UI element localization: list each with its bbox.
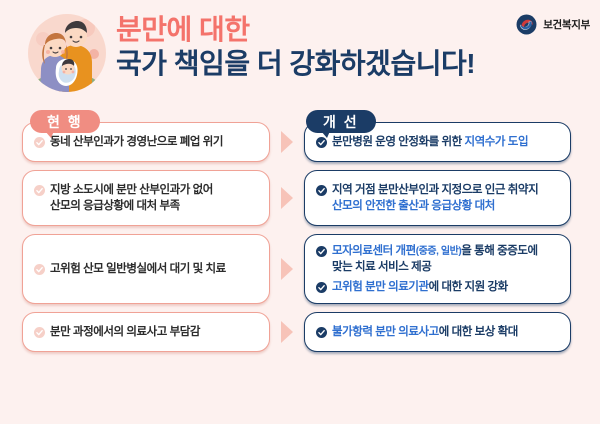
bullet-item: 분만 과정에서의 의료사고 부담감 — [34, 324, 256, 340]
bullet-item: 불가항력 분만 의료사고에 대한 보상 확대 — [316, 324, 557, 340]
text-segment: 에 대한 지원 강화 — [429, 281, 508, 293]
bullet-item: 고위험 산모 일반병실에서 대기 및 치료 — [34, 261, 256, 277]
text-segment: 분만 과정에서의 의료사고 부담감 — [50, 326, 200, 338]
title-line-2: 국가 책임을 더 강화하겠습니다! — [116, 48, 496, 80]
arrow-right-icon — [281, 258, 293, 280]
infographic-poster: 분만에 대한 국가 책임을 더 강화하겠습니다! 보건복지부 현 행 개 선 동… — [0, 0, 600, 424]
check-icon — [316, 246, 327, 257]
bullet-line: 맞는 치료 서비스 제공 — [332, 259, 538, 275]
comparison-row: 분만 과정에서의 의료사고 부담감불가항력 분만 의료사고에 대한 보상 확대 — [0, 312, 600, 352]
check-icon — [316, 137, 327, 148]
bullet-line: 지방 소도시에 분만 산부인과가 없어 — [50, 182, 213, 198]
bullet-line: 고위험 산모 일반병실에서 대기 및 치료 — [50, 261, 226, 277]
text-segment: 지방 소도시에 분만 산부인과가 없어 — [50, 184, 213, 196]
current-card: 지방 소도시에 분만 산부인과가 없어산모의 응급상황에 대처 부족 — [22, 170, 270, 226]
comparison-row: 고위험 산모 일반병실에서 대기 및 치료모자의료센터 개편(중증, 일반)을 … — [0, 234, 600, 304]
bullet-line: 분만 과정에서의 의료사고 부담감 — [50, 324, 200, 340]
bullet-item: 고위험 분만 의료기관에 대한 지원 강화 — [316, 279, 557, 295]
arrow-cell — [270, 234, 304, 304]
improve-card: 불가항력 분만 의료사고에 대한 보상 확대 — [304, 312, 571, 352]
bullet-line: 불가항력 분만 의료사고에 대한 보상 확대 — [332, 324, 518, 340]
bullet-text: 지방 소도시에 분만 산부인과가 없어산모의 응급상황에 대처 부족 — [50, 182, 213, 215]
text-segment: 고위험 산모 일반병실에서 대기 및 치료 — [50, 263, 226, 275]
arrow-right-icon — [281, 187, 293, 209]
arrow-cell — [270, 170, 304, 226]
check-icon — [316, 327, 327, 338]
check-icon — [34, 137, 45, 148]
bullet-item: 동네 산부인과가 경영난으로 폐업 위기 — [34, 134, 256, 150]
bullet-item: 지역 거점 분만산부인과 지정으로 인근 취약지산모의 안전한 출산과 응급상황… — [316, 182, 557, 215]
text-segment: 에 대한 보상 확대 — [439, 326, 518, 338]
current-card: 분만 과정에서의 의료사고 부담감 — [22, 312, 270, 352]
column-badge-improve-label: 개 선 — [323, 112, 359, 132]
text-segment: (중증, 일반) — [416, 246, 461, 257]
bullet-item: 모자의료센터 개편(중증, 일반)을 통해 중증도에맞는 치료 서비스 제공 — [316, 243, 557, 276]
check-icon — [34, 185, 45, 196]
column-badge-improve: 개 선 — [306, 110, 376, 133]
check-icon — [34, 264, 45, 275]
column-badge-current-label: 현 행 — [47, 112, 83, 132]
bullet-text: 동네 산부인과가 경영난으로 폐업 위기 — [50, 134, 223, 150]
check-icon — [316, 282, 327, 293]
bullet-text: 고위험 분만 의료기관에 대한 지원 강화 — [332, 279, 508, 295]
bullet-line: 산모의 안전한 출산과 응급상황 대처 — [332, 198, 538, 214]
bullet-line: 동네 산부인과가 경영난으로 폐업 위기 — [50, 134, 223, 150]
bullet-item: 분만병원 운영 안정화를 위한 지역수가 도입 — [316, 134, 557, 150]
text-segment: 을 통해 중증도에 — [461, 245, 537, 257]
bullet-line: 분만병원 운영 안정화를 위한 지역수가 도입 — [332, 134, 528, 150]
arrow-right-icon — [281, 131, 293, 153]
text-segment: 지역 거점 분만산부인과 지정으로 인근 취약지 — [332, 184, 538, 196]
text-segment: 산모의 안전한 출산과 응급상황 대처 — [332, 200, 495, 212]
comparison-row: 지방 소도시에 분만 산부인과가 없어산모의 응급상황에 대처 부족지역 거점 … — [0, 170, 600, 226]
taegeuk-icon — [516, 14, 537, 35]
bullet-text: 불가항력 분만 의료사고에 대한 보상 확대 — [332, 324, 518, 340]
check-icon — [316, 185, 327, 196]
bullet-text: 분만병원 운영 안정화를 위한 지역수가 도입 — [332, 134, 528, 150]
arrow-cell — [270, 312, 304, 352]
family-with-newborn-illustration — [26, 12, 108, 94]
bullet-text: 지역 거점 분만산부인과 지정으로 인근 취약지산모의 안전한 출산과 응급상황… — [332, 182, 538, 215]
text-segment: 지역수가 도입 — [465, 136, 529, 148]
bullet-item: 지방 소도시에 분만 산부인과가 없어산모의 응급상황에 대처 부족 — [34, 182, 256, 215]
bullet-line: 모자의료센터 개편(중증, 일반)을 통해 중증도에 — [332, 243, 538, 259]
bullet-text: 고위험 산모 일반병실에서 대기 및 치료 — [50, 261, 226, 277]
text-segment: 모자의료센터 개편 — [332, 245, 416, 257]
comparison-rows: 동네 산부인과가 경영난으로 폐업 위기분만병원 운영 안정화를 위한 지역수가… — [0, 122, 600, 360]
text-segment: 고위험 분만 의료기관 — [332, 281, 429, 293]
title-line-1: 분만에 대한 — [116, 14, 496, 46]
header: 분만에 대한 국가 책임을 더 강화하겠습니다! 보건복지부 — [0, 0, 600, 104]
text-segment: 분만병원 운영 안정화를 위한 — [332, 136, 465, 148]
check-icon — [34, 327, 45, 338]
improve-card: 모자의료센터 개편(중증, 일반)을 통해 중증도에맞는 치료 서비스 제공고위… — [304, 234, 571, 304]
improve-card: 지역 거점 분만산부인과 지정으로 인근 취약지산모의 안전한 출산과 응급상황… — [304, 170, 571, 226]
ministry-name: 보건복지부 — [543, 17, 590, 32]
page-title: 분만에 대한 국가 책임을 더 강화하겠습니다! — [116, 14, 496, 81]
text-segment: 동네 산부인과가 경영난으로 폐업 위기 — [50, 136, 223, 148]
bullet-line: 지역 거점 분만산부인과 지정으로 인근 취약지 — [332, 182, 538, 198]
bullet-text: 분만 과정에서의 의료사고 부담감 — [50, 324, 200, 340]
text-segment: 불가항력 분만 의료사고 — [332, 326, 439, 338]
arrow-cell — [270, 122, 304, 162]
arrow-right-icon — [281, 321, 293, 343]
text-segment: 맞는 치료 서비스 제공 — [332, 261, 431, 273]
bullet-line: 고위험 분만 의료기관에 대한 지원 강화 — [332, 279, 508, 295]
bullet-text: 모자의료센터 개편(중증, 일반)을 통해 중증도에맞는 치료 서비스 제공 — [332, 243, 538, 276]
bullet-line: 산모의 응급상황에 대처 부족 — [50, 198, 213, 214]
text-segment: 산모의 응급상황에 대처 부족 — [50, 200, 180, 212]
ministry-logo: 보건복지부 — [516, 14, 590, 35]
column-badge-current: 현 행 — [30, 110, 100, 133]
current-card: 고위험 산모 일반병실에서 대기 및 치료 — [22, 234, 270, 304]
